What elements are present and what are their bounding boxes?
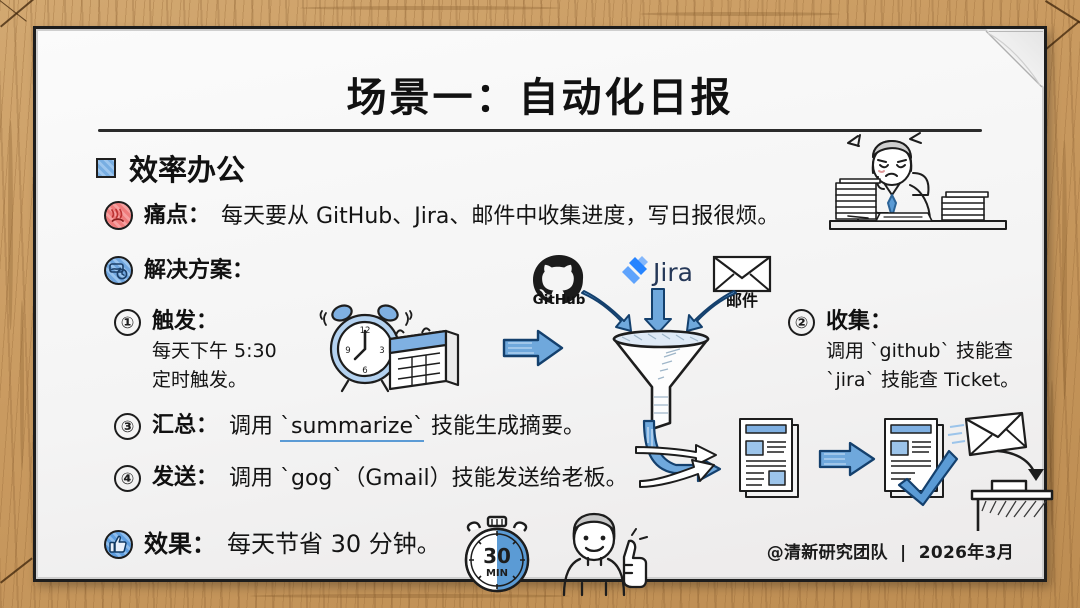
footer-author: @清新研究团队 bbox=[767, 543, 888, 563]
footer-divider: | bbox=[900, 543, 907, 563]
step-2-line-1: 调用 `github` 技能查 bbox=[826, 340, 1013, 362]
stopwatch-30-min-icon: 30 MIN bbox=[458, 515, 536, 597]
step-2-line-2: `jira` 技能查 Ticket。 bbox=[826, 369, 1019, 391]
document-icon bbox=[736, 417, 808, 503]
solution-idea-icon bbox=[104, 256, 133, 285]
blue-arrow-right-icon bbox=[818, 441, 876, 479]
result-lead: 效果： bbox=[144, 528, 216, 561]
text-to-document-arrows-icon bbox=[634, 433, 726, 499]
alarm-clock-icon: 12 3 6 9 bbox=[318, 301, 490, 393]
svg-text:Jira: Jira bbox=[651, 258, 693, 287]
person-thumbs-up-icon bbox=[554, 513, 650, 597]
step-2-number: ② bbox=[788, 309, 815, 336]
step-1-line-2: 定时触发。 bbox=[152, 369, 247, 391]
step-4-text: 调用 `gog`（Gmail）技能发送给老板。 bbox=[229, 463, 628, 495]
step-3-prefix: 调用 bbox=[229, 414, 280, 439]
angry-face-icon bbox=[104, 201, 133, 230]
svg-text:3: 3 bbox=[379, 346, 384, 356]
svg-text:12: 12 bbox=[360, 326, 371, 336]
step-3-suffix: 技能生成摘要。 bbox=[424, 414, 585, 439]
solution-lead: 解决方案： bbox=[144, 256, 254, 286]
tired-office-worker-icon bbox=[818, 121, 1018, 241]
step-1-row: ① 触发： 每天下午 5:30 定时触发。 bbox=[114, 307, 277, 394]
calendar-icon bbox=[390, 328, 458, 389]
step-4-number: ④ bbox=[114, 465, 141, 492]
result-row: 效果： 每天节省 30 分钟。 bbox=[104, 527, 441, 562]
whiteboard-panel: 场景一：自动化日报 效率办公 痛点： 每天要从 GitHub、Jira、邮件中收… bbox=[33, 26, 1047, 582]
step-4-lead: 发送： bbox=[152, 463, 218, 493]
blue-arrow-right-icon bbox=[502, 329, 564, 369]
section-title: 效率办公 bbox=[129, 147, 245, 189]
stopwatch-unit: MIN bbox=[486, 568, 508, 579]
footer-credit: @清新研究团队 | 2026年3月 bbox=[767, 538, 1014, 563]
stopwatch-value: 30 bbox=[483, 544, 511, 568]
page-title: 场景一：自动化日报 bbox=[36, 65, 1044, 123]
footer-date: 2026年3月 bbox=[919, 543, 1014, 563]
step-2-row: ② 收集： 调用 `github` 技能查 `jira` 技能查 Ticket。 bbox=[788, 307, 1019, 394]
step-4-row: ④ 发送： 调用 `gog`（Gmail）技能发送给老板。 bbox=[114, 463, 628, 495]
funnel-icon bbox=[606, 331, 716, 433]
step-1-line-1: 每天下午 5:30 bbox=[152, 340, 277, 362]
step-3-row: ③ 汇总： 调用 `summarize` 技能生成摘要。 bbox=[114, 411, 585, 443]
step-3-lead: 汇总： bbox=[152, 411, 218, 441]
jira-logo-icon: Jira bbox=[621, 253, 697, 289]
converging-arrows-icon bbox=[576, 287, 746, 337]
pain-point-row: 痛点： 每天要从 GitHub、Jira、邮件中收集进度，写日报很烦。 bbox=[104, 201, 874, 233]
thumbs-up-icon bbox=[104, 530, 133, 559]
svg-text:6: 6 bbox=[362, 366, 367, 376]
step-1-lead: 触发： bbox=[152, 309, 218, 334]
blue-square-icon bbox=[96, 158, 116, 178]
step-1-number: ① bbox=[114, 309, 141, 336]
desk-inbox-icon bbox=[966, 477, 1058, 533]
step-2-lead: 收集： bbox=[826, 309, 892, 334]
step-3-number: ③ bbox=[114, 413, 141, 440]
pain-point-text: 每天要从 GitHub、Jira、邮件中收集进度，写日报很烦。 bbox=[221, 201, 779, 233]
pain-point-lead: 痛点： bbox=[144, 201, 210, 231]
result-text: 每天节省 30 分钟。 bbox=[227, 527, 441, 562]
svg-text:9: 9 bbox=[345, 346, 350, 356]
step-3-code: `summarize` bbox=[280, 414, 424, 442]
solution-row: 解决方案： bbox=[104, 256, 254, 286]
section-heading: 效率办公 bbox=[96, 147, 245, 189]
